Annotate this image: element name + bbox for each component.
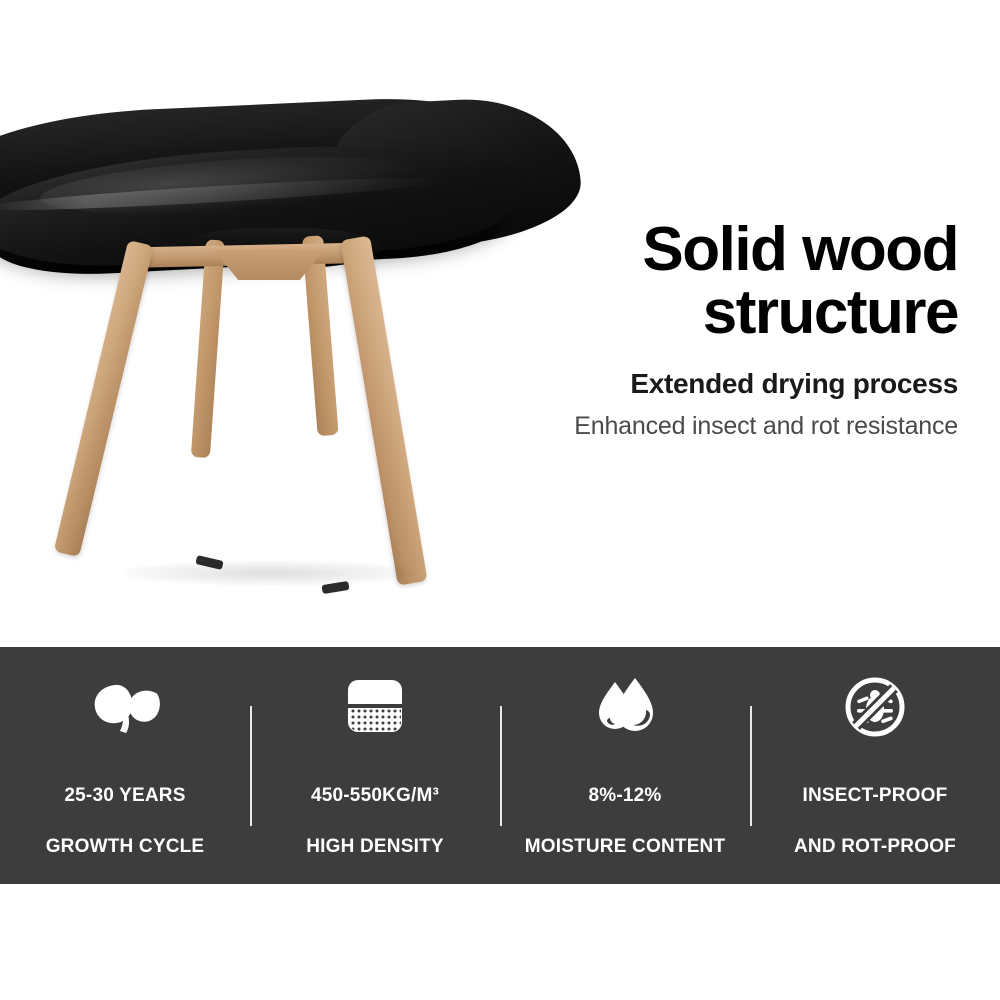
feature-label-line1: 25-30 YEARS: [64, 785, 185, 806]
chair-leg-front-left: [54, 240, 154, 557]
page-title: Solid wood structure: [528, 218, 958, 344]
feature-label: 8%-12% MOISTURE CONTENT: [525, 758, 726, 858]
bottom-white-margin: [0, 884, 1000, 1000]
feature-growth-cycle: 25-30 YEARS GROWTH CYCLE: [0, 647, 250, 884]
feature-label-line1: INSECT-PROOF: [803, 785, 948, 806]
floor-shadow: [120, 560, 420, 586]
feature-moisture-content: 8%-12% MOISTURE CONTENT: [500, 647, 750, 884]
chair-leg-back-left: [191, 239, 225, 458]
feature-label-line1: 8%-12%: [588, 785, 661, 806]
feature-label-line2: HIGH DENSITY: [306, 836, 444, 857]
water-droplets-icon: [591, 672, 659, 742]
density-block-icon: [344, 672, 406, 742]
feature-label: 25-30 YEARS GROWTH CYCLE: [46, 758, 205, 858]
no-insect-icon: [844, 672, 906, 742]
dining-chair-photo: [0, 0, 600, 647]
headline-block: Solid wood structure Extended drying pro…: [528, 218, 958, 441]
feature-label-line2: AND ROT-PROOF: [794, 836, 956, 857]
supporting-text: Enhanced insect and rot resistance: [528, 412, 958, 441]
feature-label-line2: MOISTURE CONTENT: [525, 836, 726, 857]
hero-section: Solid wood structure Extended drying pro…: [0, 0, 1000, 647]
subheading: Extended drying process: [528, 368, 958, 400]
chair-leg-front-right: [340, 236, 427, 586]
leaf-sprout-icon: [89, 672, 161, 742]
feature-high-density: 450-550KG/M³ HIGH DENSITY: [250, 647, 500, 884]
feature-label-line2: GROWTH CYCLE: [46, 836, 205, 857]
feature-insect-rot-proof: INSECT-PROOF AND ROT-PROOF: [750, 647, 1000, 884]
feature-bar: 25-30 YEARS GROWTH CYCLE 450-55: [0, 647, 1000, 884]
feature-label: INSECT-PROOF AND ROT-PROOF: [794, 758, 956, 858]
feature-label: 450-550KG/M³ HIGH DENSITY: [306, 758, 444, 858]
feature-label-line1: 450-550KG/M³: [311, 785, 439, 806]
product-feature-banner: Solid wood structure Extended drying pro…: [0, 0, 1000, 1000]
